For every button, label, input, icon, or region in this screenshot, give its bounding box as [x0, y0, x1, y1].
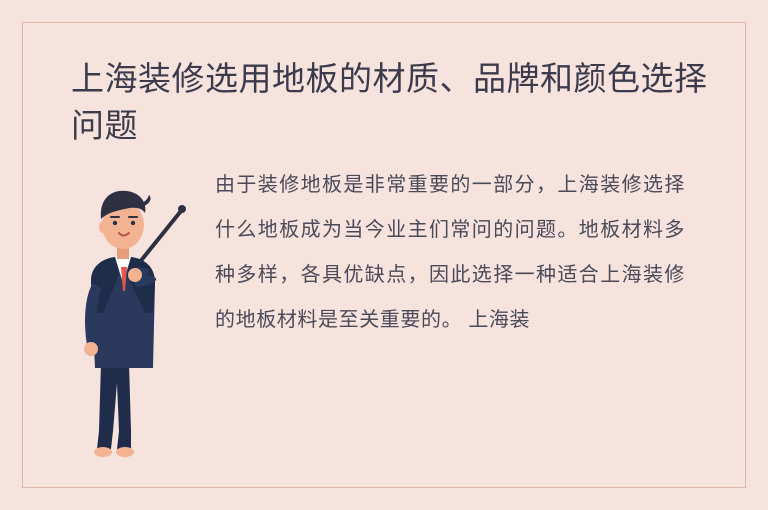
article-body-row: 由于装修地板是非常重要的一部分，上海装修选择什么地板成为当今业主们常问的问题。地…: [53, 163, 717, 463]
page-title: 上海装修选用地板的材质、品牌和颜色选择问题: [71, 55, 711, 149]
article-body: 由于装修地板是非常重要的一部分，上海装修选择什么地板成为当今业主们常问的问题。地…: [215, 163, 685, 343]
businessman-with-pointer-illustration: [53, 163, 193, 463]
content-card: 上海装修选用地板的材质、品牌和颜色选择问题: [22, 22, 746, 488]
